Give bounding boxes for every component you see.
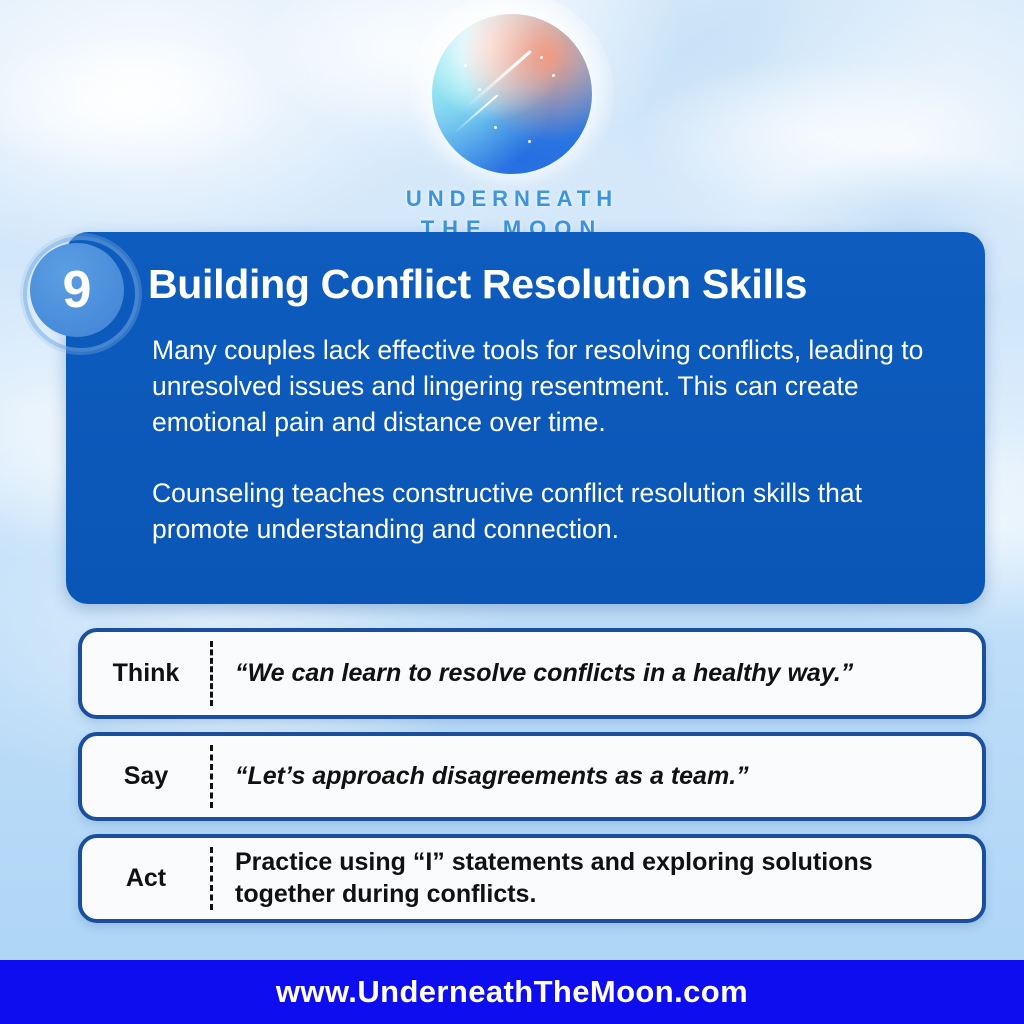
body-paragraph-2: Counseling teaches constructive conflict…	[152, 475, 965, 547]
main-content-card: 9 Building Conflict Resolution Skills Ma…	[66, 232, 985, 604]
page-title: Building Conflict Resolution Skills	[148, 262, 961, 307]
action-card-text-say: “Let’s approach disagreements as a team.…	[213, 761, 982, 793]
action-card-act: Act Practice using “I” statements and ex…	[78, 834, 986, 923]
star-dot-icon	[540, 56, 543, 59]
step-number-badge: 9	[23, 236, 131, 344]
gradient-sphere-shooting-star-icon	[432, 14, 592, 174]
action-card-text-think: “We can learn to resolve conflicts in a …	[213, 658, 982, 690]
action-card-say: Say “Let’s approach disagreements as a t…	[78, 732, 986, 821]
website-url[interactable]: www.UnderneathTheMoon.com	[276, 974, 748, 1010]
brand-logo-block: UNDERNEATH THE MOON	[0, 14, 1024, 245]
star-dot-icon	[552, 74, 555, 77]
action-card-label-act: Act	[82, 864, 210, 893]
action-card-think: Think “We can learn to resolve conflicts…	[78, 628, 986, 719]
star-dot-icon	[528, 140, 531, 143]
badge-disc: 9	[30, 243, 124, 337]
logo-sphere-wrap	[432, 14, 592, 174]
action-card-label-say: Say	[82, 762, 210, 791]
footer-bar: www.UnderneathTheMoon.com	[0, 960, 1024, 1024]
body-paragraph-1: Many couples lack effective tools for re…	[152, 332, 965, 440]
star-dot-icon	[478, 88, 481, 91]
star-dot-icon	[464, 64, 467, 67]
action-card-text-act: Practice using “I” statements and explor…	[213, 847, 982, 910]
action-card-label-think: Think	[82, 659, 210, 688]
shooting-star-icon	[465, 50, 532, 109]
badge-number-label: 9	[63, 264, 92, 316]
star-dot-icon	[494, 126, 497, 129]
poster-canvas: UNDERNEATH THE MOON 9 Building Conflict …	[0, 0, 1024, 1024]
main-card-body: Many couples lack effective tools for re…	[152, 332, 965, 547]
